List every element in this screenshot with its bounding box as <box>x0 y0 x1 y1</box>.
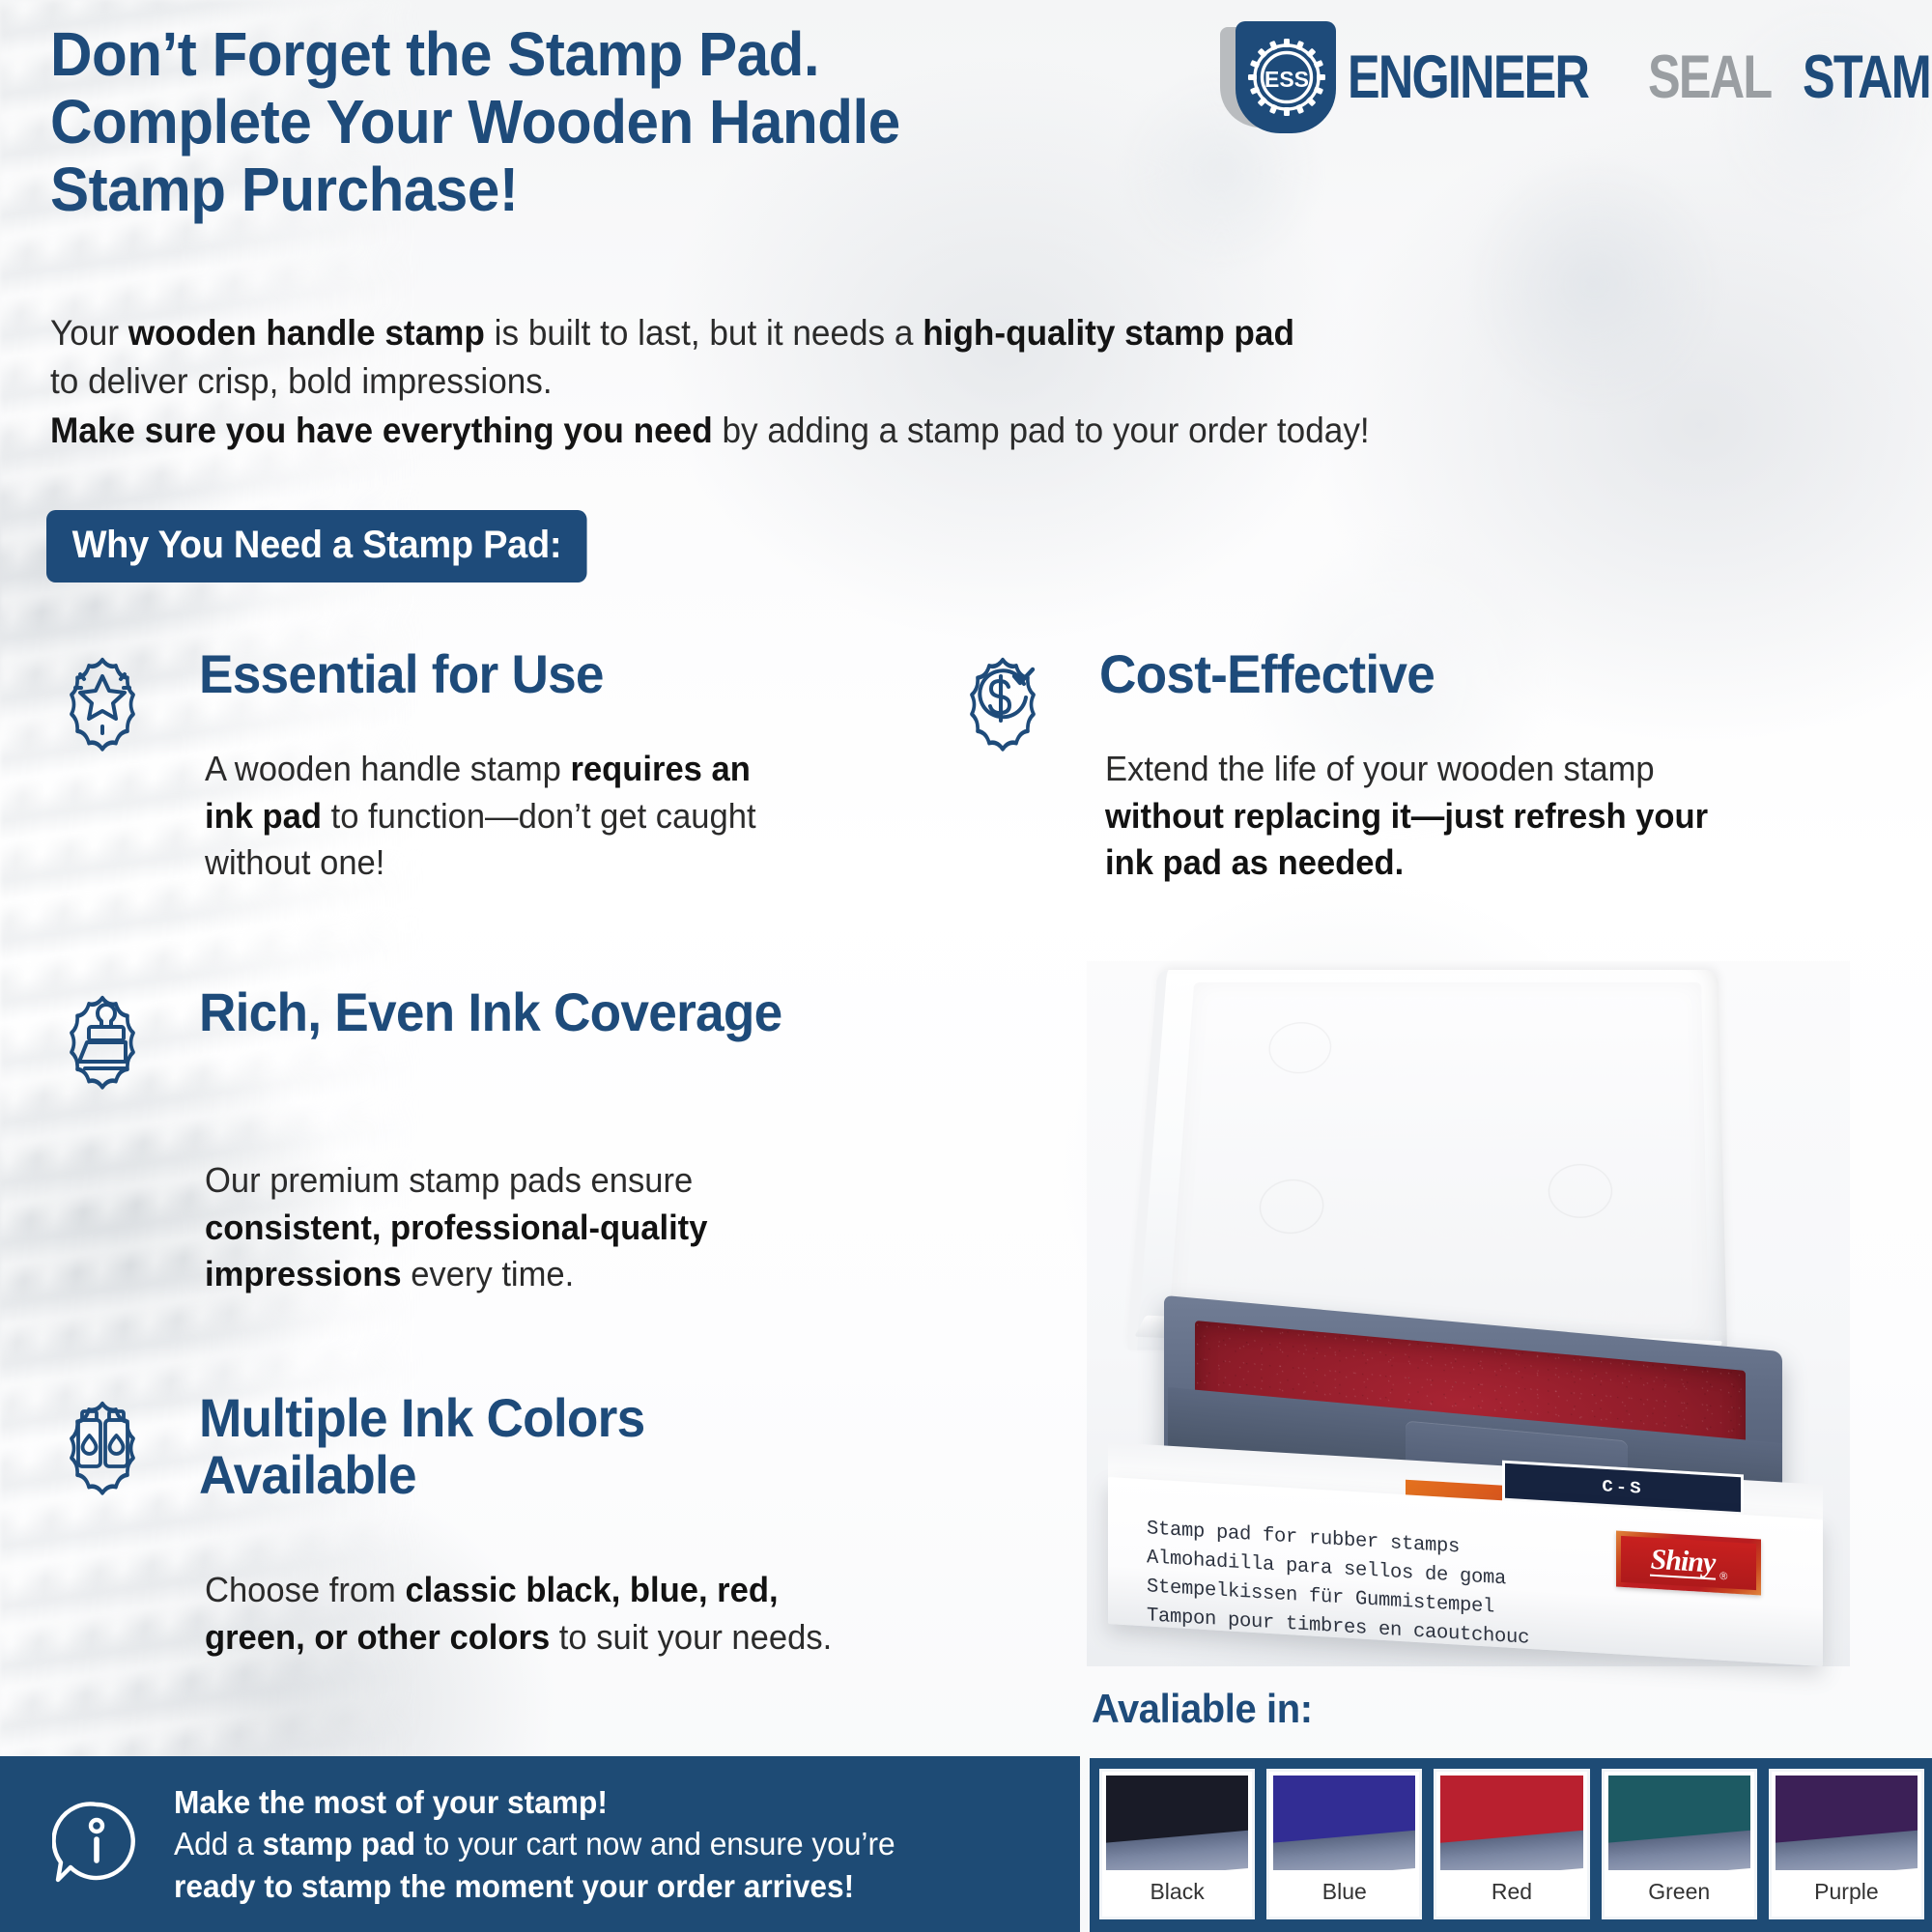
cta-bold-stamp-pad: stamp pad <box>263 1826 415 1861</box>
ess-logo[interactable]: ESS ENGINEER SEAL STAMPS .COM <box>1212 21 1900 133</box>
logo-word-engineer: ENGINEER <box>1348 47 1588 108</box>
swatch-label: Purple <box>1776 1870 1918 1913</box>
retail-box-description-lines: Stamp pad for rubber stamps Almohadilla … <box>1147 1515 1562 1656</box>
benefit-body-part-2: every time. <box>402 1254 575 1293</box>
infographic-page: Don’t Forget the Stamp Pad. Complete You… <box>0 0 1932 1932</box>
logo-word-seal: SEAL <box>1648 47 1771 108</box>
intro-paragraph: Your wooden handle stamp is built to las… <box>50 309 1684 455</box>
benefit-body-part-0: A wooden handle stamp <box>205 749 571 788</box>
swatch-color-preview <box>1106 1776 1248 1870</box>
cta-line-1: Make the most of your stamp! <box>174 1781 895 1823</box>
footer-call-to-action: Make the most of your stamp! Add a stamp… <box>0 1756 1080 1932</box>
benefit-body: Our premium stamp pads ensure consistent… <box>205 1157 798 1298</box>
color-swatch-strip: Black Blue Red Green <box>1090 1758 1932 1932</box>
intro-bold-make-sure: Make sure you have everything you need <box>50 411 713 450</box>
swatch-color-preview <box>1608 1776 1750 1870</box>
rubber-stamp-badge-icon <box>46 976 158 1097</box>
swatch-label: Green <box>1608 1870 1750 1913</box>
benefit-title: Multiple Ink Colors Available <box>199 1389 805 1504</box>
star-badge-icon <box>46 638 158 759</box>
page-title: Don’t Forget the Stamp Pad. Complete You… <box>50 21 1167 223</box>
benefit-body-part-2: to suit your needs. <box>550 1617 832 1657</box>
swatch-blue[interactable]: Blue <box>1266 1769 1422 1919</box>
benefit-title: Rich, Even Ink Coverage <box>199 983 786 1040</box>
benefit-body: Extend the life of your wooden stamp wit… <box>1105 746 1736 887</box>
info-speech-bubble-icon <box>52 1797 141 1891</box>
swatch-color-preview <box>1776 1776 1918 1870</box>
retail-box-code-text: C-S <box>1602 1477 1643 1498</box>
benefit-body-part-0: Our premium stamp pads ensure <box>205 1160 693 1200</box>
stamp-pad-lid <box>1126 970 1726 1350</box>
intro-text-c: is built to last, but it needs a <box>485 313 923 353</box>
shiny-brand-logo: Shiny ® <box>1616 1531 1761 1596</box>
swatch-label: Blue <box>1273 1870 1415 1913</box>
swatch-green[interactable]: Green <box>1602 1769 1757 1919</box>
swatch-black[interactable]: Black <box>1099 1769 1255 1919</box>
intro-text-a: Your <box>50 313 128 353</box>
swatch-red[interactable]: Red <box>1434 1769 1589 1919</box>
lid-dimple <box>1258 1179 1325 1234</box>
benefit-body-part-0: Choose from <box>205 1570 405 1609</box>
cta-line-2: Add a stamp pad to your cart now and ens… <box>174 1823 895 1864</box>
stamp-pad-lid-inner <box>1168 982 1709 1340</box>
benefit-body-part-0: Extend the life of your wooden stamp <box>1105 749 1655 788</box>
intro-bold-high-quality-stamp-pad: high-quality stamp pad <box>923 313 1294 353</box>
benefit-body: A wooden handle stamp requires an ink pa… <box>205 746 798 887</box>
lid-dimple <box>1267 1022 1333 1073</box>
headline-line-3: Stamp Purchase! <box>50 156 1167 224</box>
cta-line-3: ready to stamp the moment your order arr… <box>174 1865 895 1907</box>
shiny-logo-inner: Shiny ® <box>1621 1536 1756 1590</box>
shiny-registered-mark: ® <box>1719 1571 1727 1588</box>
swatch-color-preview <box>1440 1776 1582 1870</box>
cta-text-a: Add a <box>174 1826 263 1861</box>
swatch-purple[interactable]: Purple <box>1769 1769 1924 1919</box>
swatch-color-preview <box>1273 1776 1415 1870</box>
cta-text-c: to your cart now and ensure you’re <box>415 1826 895 1861</box>
headline-line-1: Don’t Forget the Stamp Pad. <box>50 21 1167 89</box>
swatch-label: Black <box>1106 1870 1248 1913</box>
benefit-title: Cost-Effective <box>1099 645 1760 702</box>
logo-badge: ESS <box>1212 21 1336 133</box>
cta-text-block: Make the most of your stamp! Add a stamp… <box>174 1781 895 1907</box>
intro-bold-wooden-handle-stamp: wooden handle stamp <box>128 313 485 353</box>
benefit-body: Choose from classic black, blue, red, gr… <box>205 1567 854 1661</box>
intro-line-2: to deliver crisp, bold impressions. <box>50 357 1684 406</box>
logo-badge-text: ESS <box>1264 67 1309 92</box>
benefit-title: Essential for Use <box>199 645 786 702</box>
intro-line-3: Make sure you have everything you need b… <box>50 407 1684 455</box>
logo-word-stamps: STAMPS <box>1803 47 1932 108</box>
gear-icon: ESS <box>1245 33 1328 122</box>
ink-bottles-badge-icon <box>46 1381 158 1503</box>
swatch-label: Red <box>1440 1870 1582 1913</box>
lid-dimple <box>1548 1164 1613 1218</box>
shiny-logo-text: Shiny <box>1650 1546 1717 1579</box>
headline-line-2: Complete Your Wooden Handle <box>50 89 1167 156</box>
available-in-title: Avaliable in: <box>1092 1686 1313 1732</box>
intro-line-1: Your wooden handle stamp is built to las… <box>50 309 1684 357</box>
dollar-check-badge-icon <box>947 638 1059 759</box>
logo-wordmark: ENGINEER SEAL STAMPS .COM <box>1348 47 1932 108</box>
why-you-need-ribbon: Why You Need a Stamp Pad: <box>46 510 587 582</box>
intro-text-tail: by adding a stamp pad to your order toda… <box>713 411 1370 450</box>
product-photo-stamp-pad: C-S Stamp pad for rubber stamps Almohadi… <box>1087 961 1850 1666</box>
benefit-body-part-1: without replacing it—just refresh your i… <box>1105 796 1708 883</box>
